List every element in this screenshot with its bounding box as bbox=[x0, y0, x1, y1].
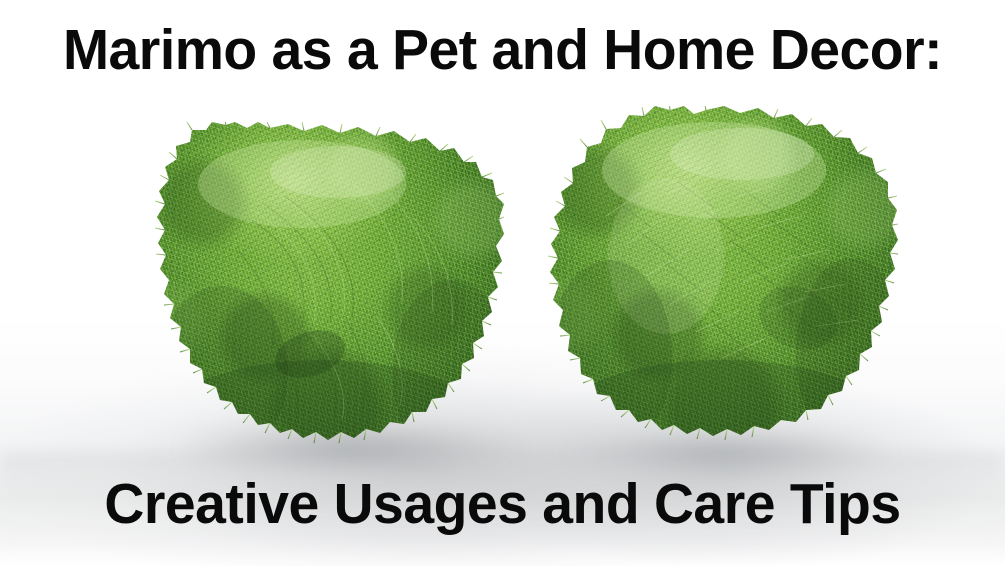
page-title-bottom: Creative Usages and Care Tips bbox=[15, 472, 990, 536]
marimo-banner: Marimo as a Pet and Home Decor: Creative… bbox=[0, 0, 1005, 566]
marimo-left-silhouette bbox=[152, 122, 504, 452]
marimo-ball-right bbox=[546, 106, 898, 456]
marimo-ball-left bbox=[152, 122, 504, 452]
page-title-top: Marimo as a Pet and Home Decor: bbox=[15, 18, 990, 82]
marimo-right-silhouette bbox=[546, 106, 898, 456]
